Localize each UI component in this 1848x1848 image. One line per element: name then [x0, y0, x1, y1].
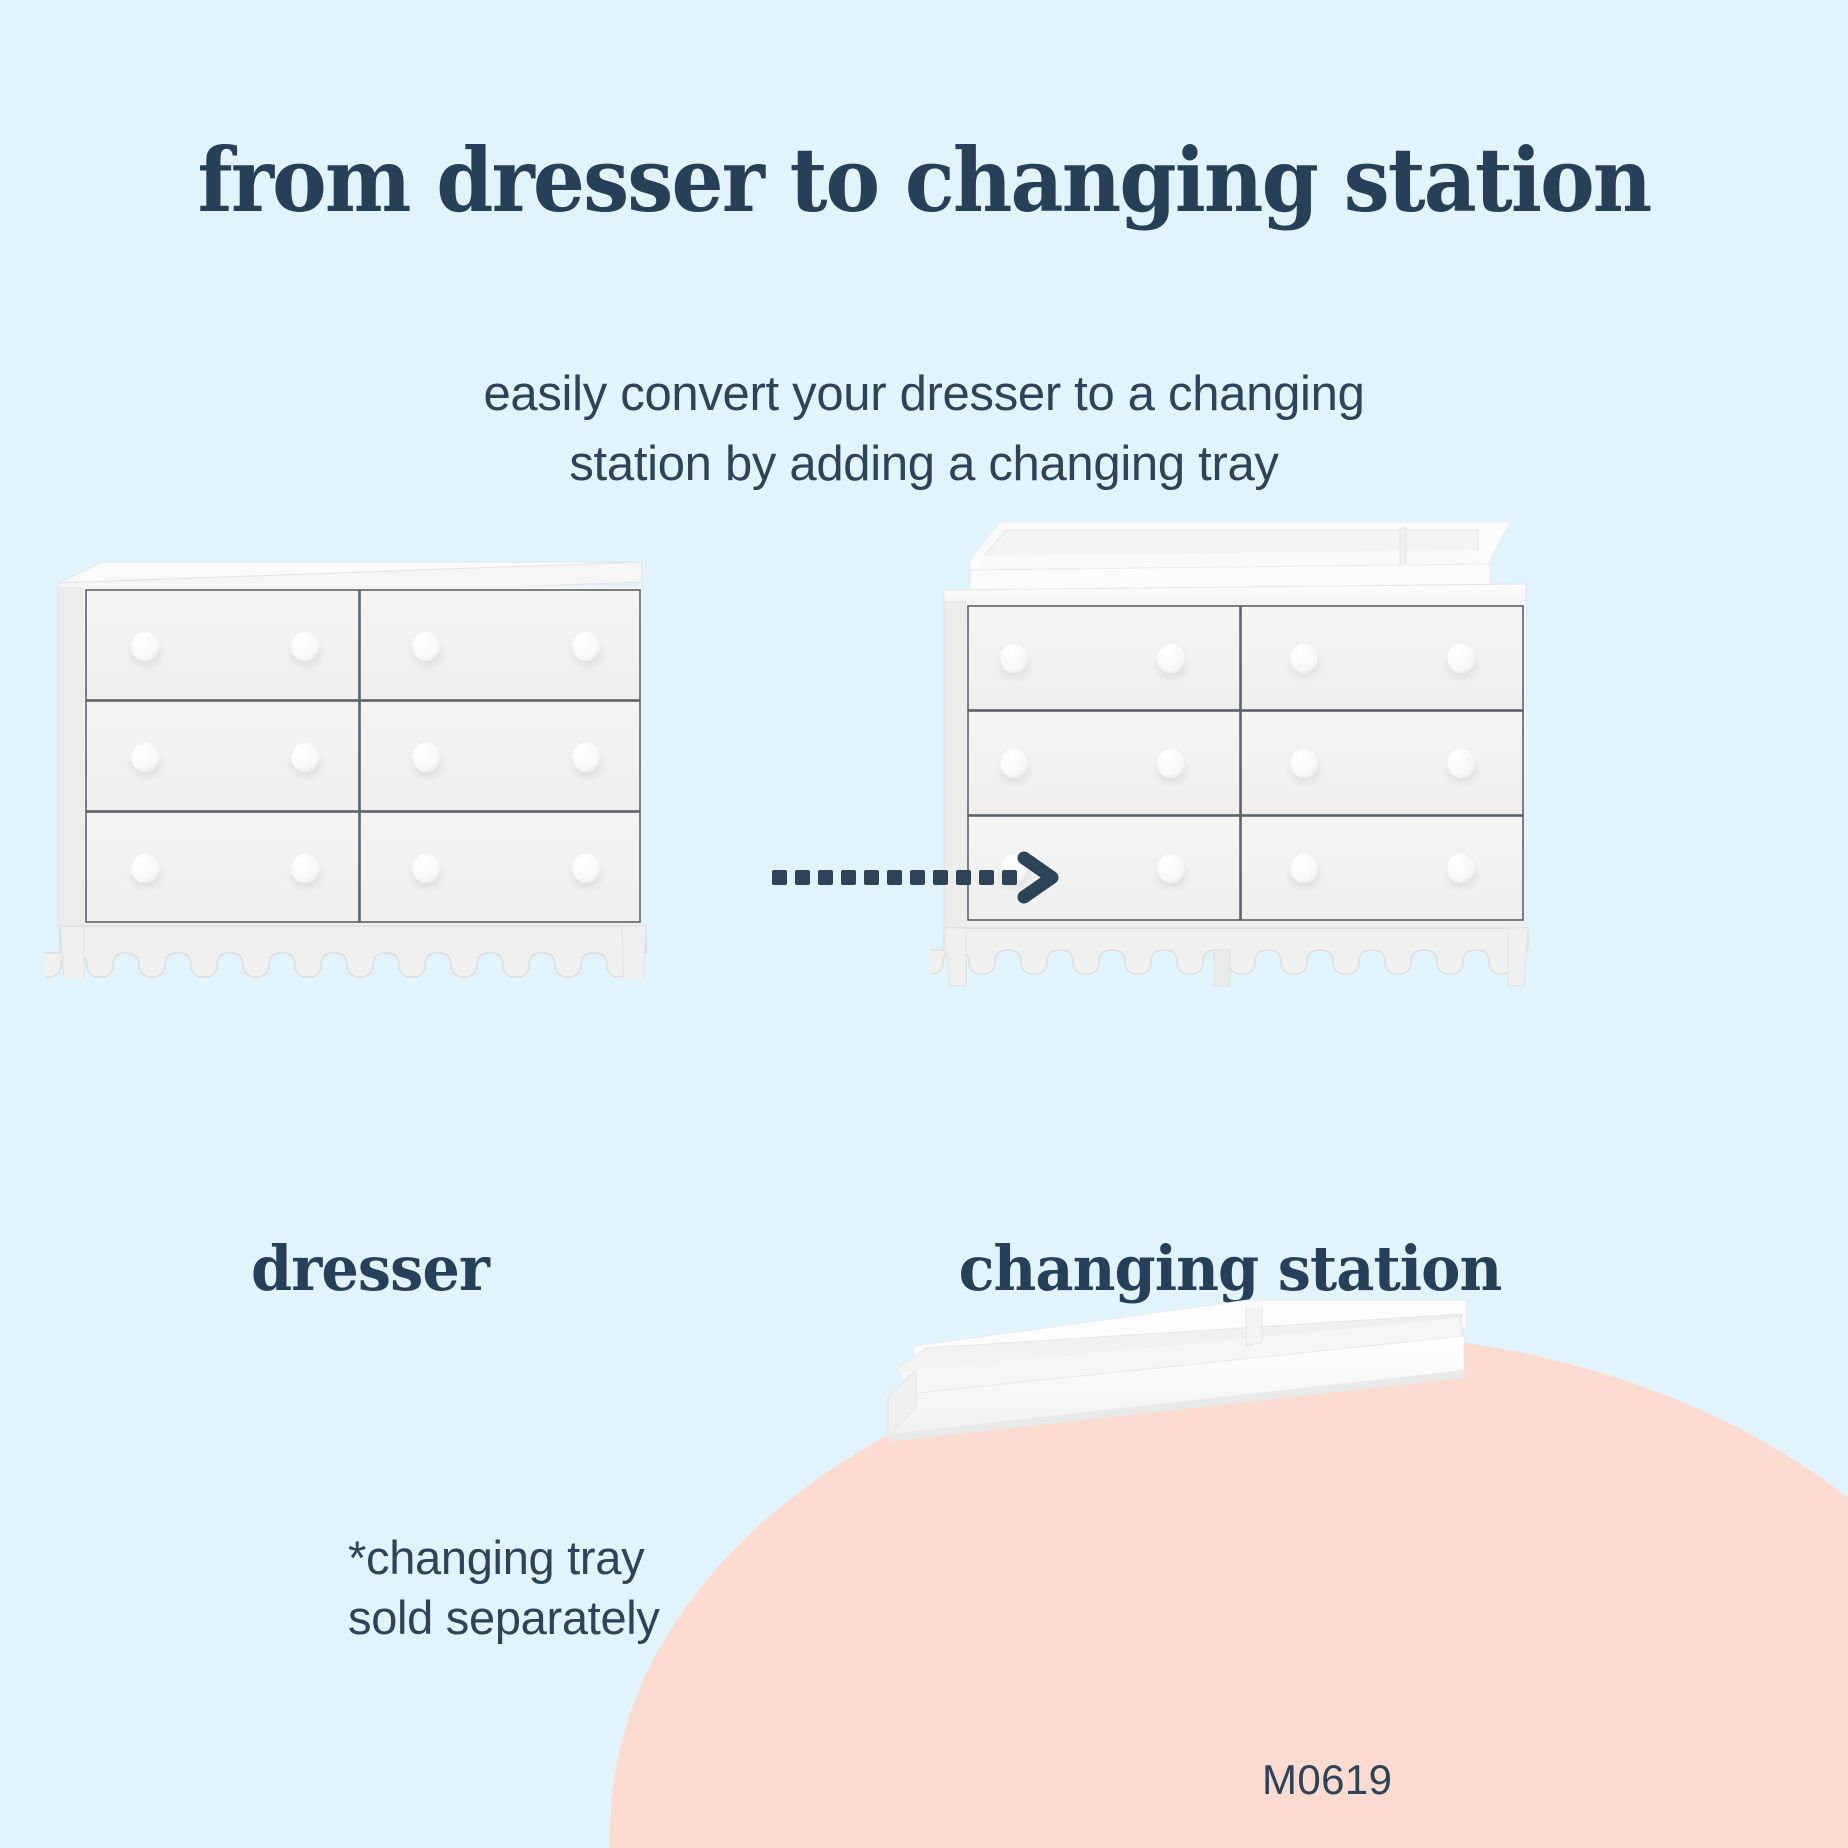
- station-leg-right: [1508, 928, 1528, 986]
- station-drawer-3-right: [1241, 816, 1523, 920]
- subtitle-line-1: easily convert your dresser to a changin…: [324, 360, 1524, 430]
- footnote-line-2: sold separately: [348, 1588, 660, 1648]
- tray-body: [888, 1300, 1466, 1442]
- station-leg-left: [944, 928, 966, 986]
- dresser-body: [46, 562, 646, 978]
- station-drawer-2-right: [1241, 711, 1523, 815]
- changing-tray-on-top: [970, 522, 1510, 590]
- footnote-changing-tray: *changing tray sold separately: [348, 1528, 660, 1648]
- subtitle-line-2: station by adding a changing tray: [324, 430, 1524, 500]
- sku-code: M0619: [1262, 1756, 1392, 1804]
- page-title: from dresser to changing station: [65, 136, 1784, 224]
- dresser-leg-left: [60, 926, 84, 978]
- promo-graphic: from dresser to changing station easily …: [0, 0, 1848, 1848]
- page-subtitle: easily convert your dresser to a changin…: [324, 360, 1524, 499]
- scallop-trim: [46, 926, 646, 977]
- dresser-left-panel: [58, 588, 83, 928]
- arrow-dashes: [772, 870, 1017, 885]
- station-drawer-1-right: [1241, 606, 1523, 710]
- station-leg-center: [1214, 950, 1230, 986]
- footnote-line-1: *changing tray: [348, 1528, 660, 1588]
- caption-dresser: dresser: [76, 1238, 665, 1300]
- arrow-head-icon: [1024, 858, 1052, 897]
- product-illustration-dresser: [46, 528, 676, 978]
- tray-divider-wall: [1246, 1302, 1262, 1346]
- changing-tray-product-shot: [866, 1286, 1486, 1486]
- tray-divider: [1400, 528, 1406, 568]
- dresser-leg-right: [622, 926, 646, 978]
- dashed-arrow-right: [770, 848, 1060, 918]
